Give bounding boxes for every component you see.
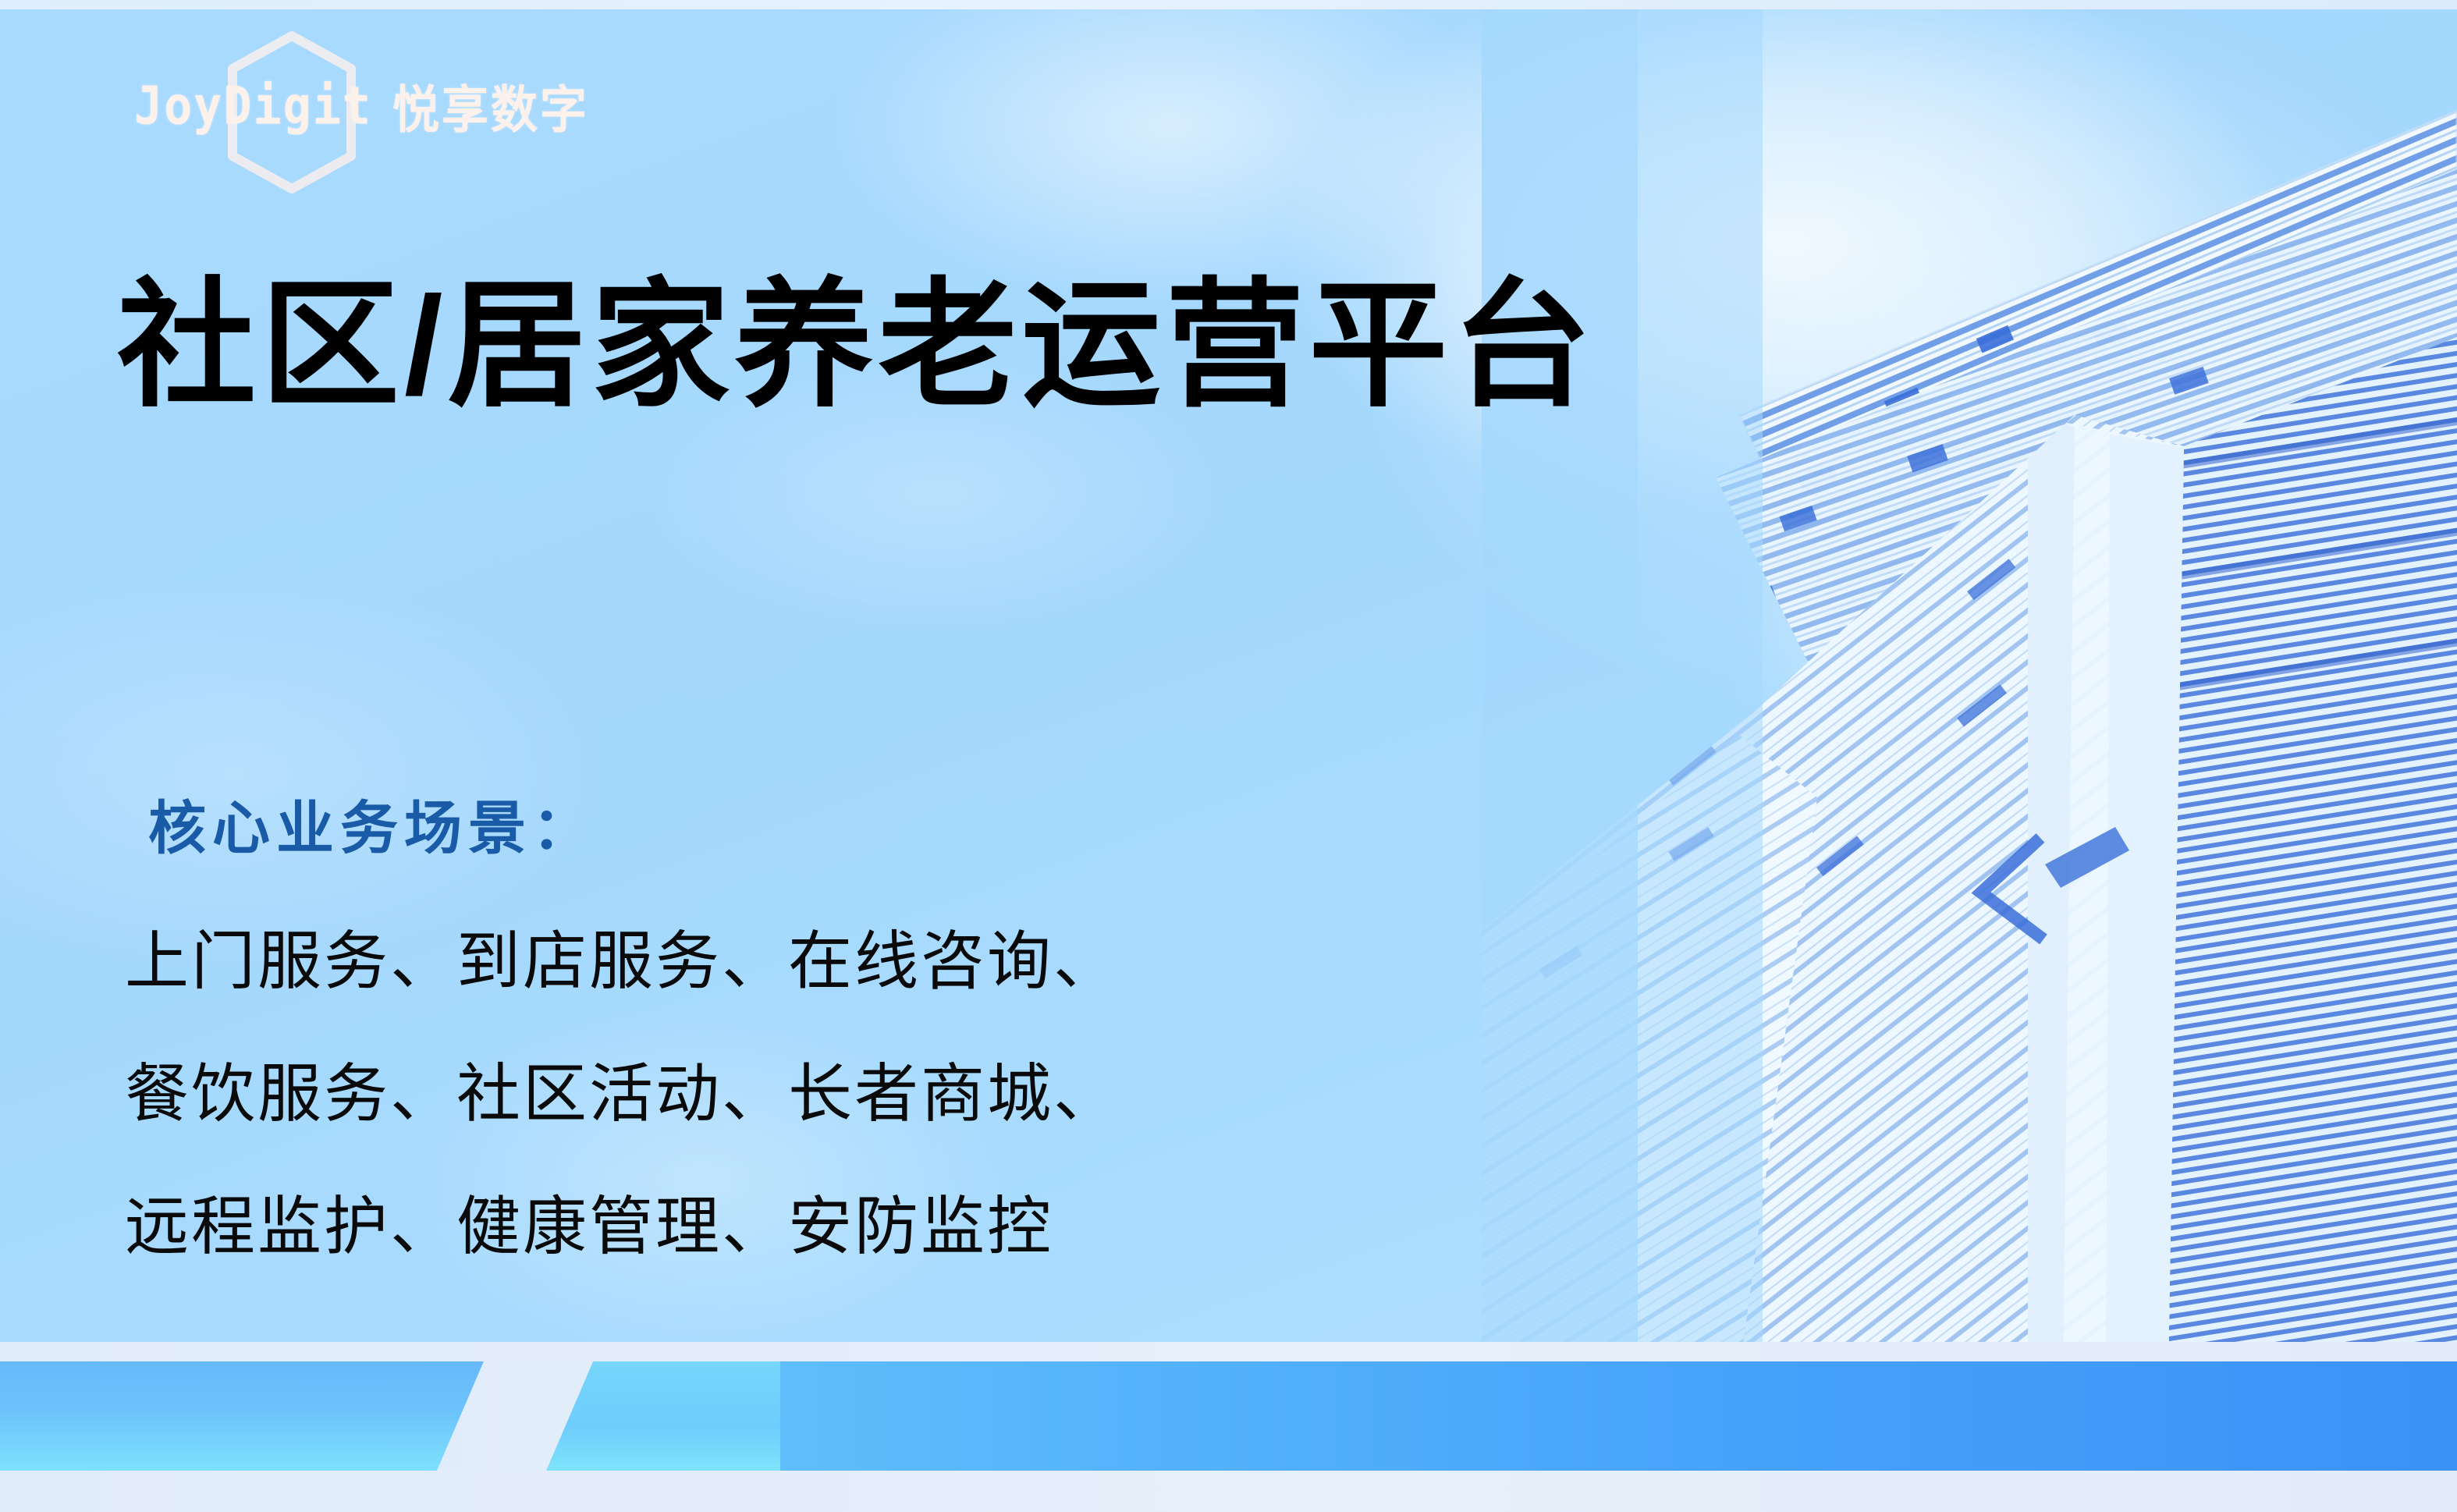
top-edge-strip — [0, 0, 2457, 9]
section-subtitle: 核心业务场景： — [148, 782, 596, 865]
skyscraper-photo — [1482, 9, 2457, 1373]
scenario-line: 上门服务、到店服务、在线咨询、 — [125, 930, 1120, 994]
scenario-line: 餐饮服务、社区活动、长者商城、 — [125, 1063, 1120, 1127]
brand-name-cn: 悦享数字 — [392, 69, 589, 143]
brand-logo[interactable]: JoyDigit 悦享数字 — [134, 72, 589, 140]
skyscraper-illustration — [1482, 9, 2457, 1373]
footer-decoration — [0, 1342, 2457, 1512]
slide-canvas: JoyDigit 悦享数字 社区/居家养老运营平台 核心业务场景： 上门服务、到… — [0, 0, 2457, 1512]
brand-wordmark: JoyDigit — [134, 75, 372, 136]
scenario-line: 远程监护、健康管理、安防监控 — [125, 1195, 1120, 1259]
scenario-list: 上门服务、到店服务、在线咨询、 餐饮服务、社区活动、长者商城、 远程监护、健康管… — [125, 930, 1120, 1259]
page-title: 社区/居家养老运营平台 — [117, 273, 1596, 419]
